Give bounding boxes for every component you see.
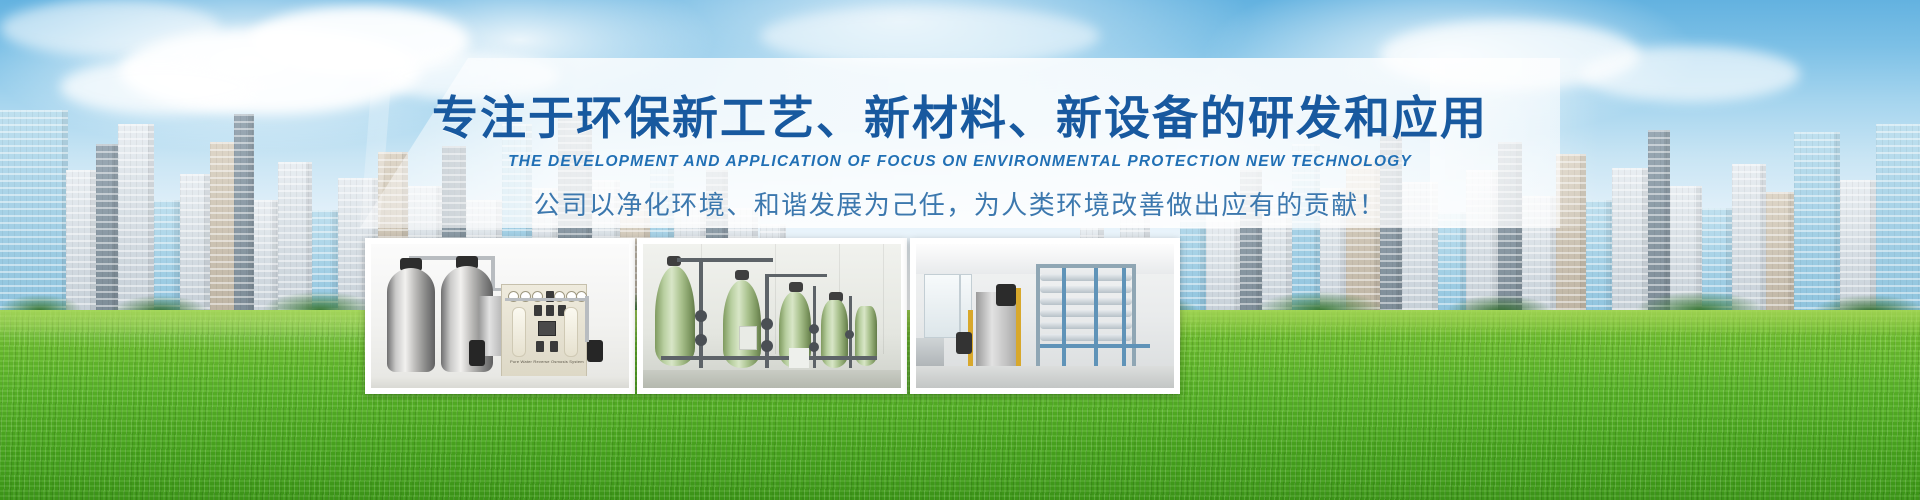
frp-filter-tank <box>655 266 695 366</box>
product-photo-3[interactable] <box>910 238 1180 394</box>
cabinet-display <box>538 321 556 336</box>
banner-headline: 专注于环保新工艺、新材料、新设备的研发和应用 <box>0 92 1920 145</box>
banner-text-block: 专注于环保新工艺、新材料、新设备的研发和应用 THE DEVELOPMENT A… <box>0 92 1920 222</box>
product-photo-1[interactable]: Pure Water Reverse Osmosis System <box>365 238 635 394</box>
cloud-shape <box>760 6 1100 66</box>
banner-tagline: 公司以净化环境、和谐发展为己任，为人类环境改善做出应有的贡献！ <box>0 185 1920 222</box>
steel-tank <box>387 268 435 372</box>
hero-banner: 专注于环保新工艺、新材料、新设备的研发和应用 THE DEVELOPMENT A… <box>0 0 1920 500</box>
cabinet-label: Pure Water Reverse Osmosis System <box>510 359 584 364</box>
product-photo-row: Pure Water Reverse Osmosis System <box>0 238 1920 500</box>
product-photo-2[interactable] <box>637 238 907 394</box>
reverse-osmosis-plant-image <box>916 244 1174 388</box>
banner-subtitle-english: THE DEVELOPMENT AND APPLICATION OF FOCUS… <box>0 153 1920 171</box>
stainless-steel-water-treatment-image: Pure Water Reverse Osmosis System <box>371 244 629 388</box>
frp-filter-tank <box>723 280 761 368</box>
green-frp-tank-row-image <box>643 244 901 388</box>
